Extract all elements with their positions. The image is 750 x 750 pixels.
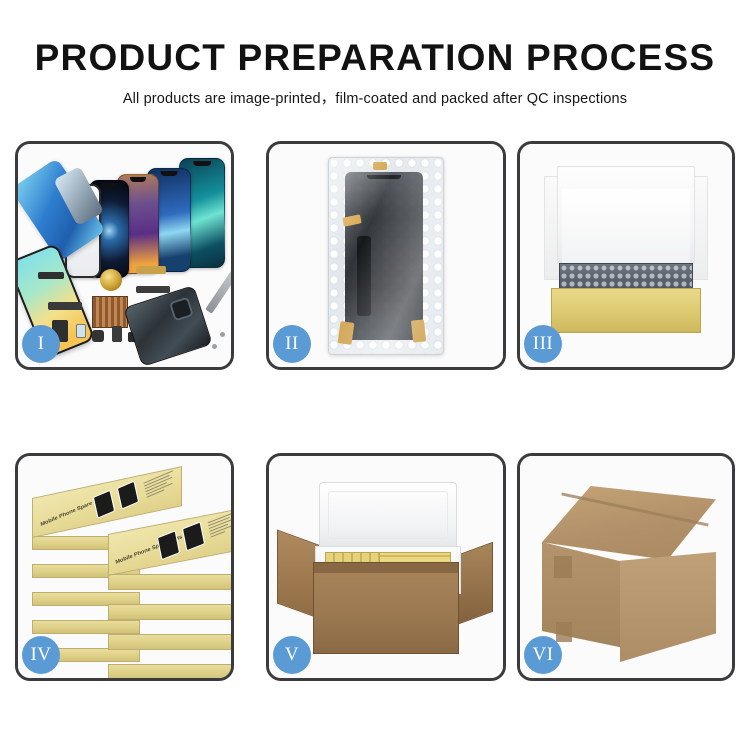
box-phone-print [157,530,180,560]
box-front-panel [551,288,702,333]
box-phone-print [93,490,115,519]
small-component-part [112,326,122,342]
carton-right-face [620,552,716,662]
header: PRODUCT PREPARATION PROCESS All products… [0,38,750,108]
product-preparation-infographic: PRODUCT PREPARATION PROCESS All products… [0,0,750,750]
bubble-wrap-bag [328,157,444,355]
step-card-3[interactable]: III [517,141,735,370]
box-spec-lines [143,470,178,500]
screw-part [212,344,217,349]
notch-icon [193,161,211,166]
flex-cable-part [136,286,170,293]
box-edge [108,574,231,590]
step-card-4[interactable]: Mobile Phone Spare Parts [15,453,234,681]
page-title: PRODUCT PREPARATION PROCESS [0,38,750,77]
box-lid-front: Mobile Phone Spare Parts [108,509,231,576]
step-badge-4: IV [22,636,60,674]
step-badge-2: II [273,325,311,363]
foam-cooler-lid [319,482,457,550]
copper-coil-part [100,269,122,291]
carton-body [313,562,459,654]
notch-icon [130,177,146,182]
step-badge-3: III [524,325,562,363]
carton-tape-lower [556,622,572,642]
box-edge [108,604,231,620]
step-badge-1: I [22,325,60,363]
small-component-part [92,330,104,342]
plastic-gloss-overlay [329,158,443,354]
step-badge-5: V [273,636,311,674]
box-edge [108,634,231,650]
phone-back-housing [123,285,213,367]
box-edge [32,620,140,634]
carton-tape-upper [554,556,572,578]
notch-icon [161,171,178,176]
step-badge-6: VI [524,636,562,674]
bubble-wrapped-contents [559,263,694,290]
notch-icon [101,183,116,188]
process-step-grid: I II [0,133,750,693]
screwdriver-icon [205,266,231,314]
screw-part [220,332,225,337]
stacked-boxes: Mobile Phone Spare Parts [32,480,221,660]
box-phone-print [117,481,139,510]
box-edge [108,664,231,678]
box-phone-print [182,521,205,551]
open-inner-box [544,166,708,333]
gold-connector-part [136,266,166,274]
step-card-1[interactable]: I [15,141,234,370]
box-spec-lines [208,512,231,540]
step-card-2[interactable]: II [266,141,506,370]
flex-cable-part [48,302,82,310]
chip-grid-part [92,296,128,328]
speaker-part [38,272,64,279]
page-subtitle: All products are image-printed，film-coat… [0,87,750,108]
step-card-6[interactable]: VI [517,453,735,681]
small-component-part [76,324,86,338]
foam-liner [562,189,690,262]
step-card-5[interactable]: V [266,453,506,681]
